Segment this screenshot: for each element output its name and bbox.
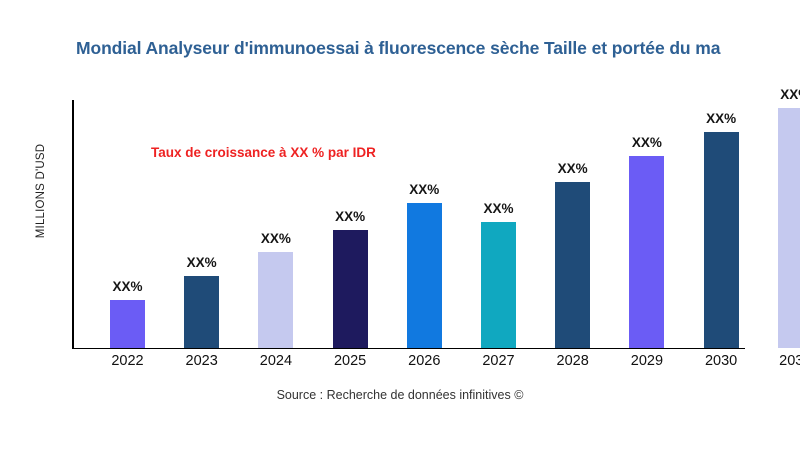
- bar-value-label-2022: XX%: [98, 279, 157, 294]
- x-tick-2022: 2022: [96, 353, 159, 369]
- bar-2025: [333, 230, 368, 348]
- x-tick-2027: 2027: [467, 353, 530, 369]
- bar-value-label-2023: XX%: [172, 255, 231, 270]
- bar-2024: [258, 252, 293, 348]
- bar-value-label-2028: XX%: [543, 161, 602, 176]
- bar-2028: [555, 182, 590, 348]
- x-tick-2024: 2024: [244, 353, 307, 369]
- x-tick-2028: 2028: [541, 353, 604, 369]
- bar-2022: [110, 300, 145, 348]
- bar-2027: [481, 222, 516, 348]
- bar-2031: [778, 108, 800, 348]
- bar-value-label-2024: XX%: [246, 231, 305, 246]
- x-tick-2023: 2023: [170, 353, 233, 369]
- x-tick-2031: 2031: [764, 353, 800, 369]
- x-tick-2030: 2030: [690, 353, 753, 369]
- bar-value-label-2026: XX%: [395, 182, 454, 197]
- bar-2023: [184, 276, 219, 348]
- x-tick-2029: 2029: [615, 353, 678, 369]
- bar-value-label-2029: XX%: [617, 135, 676, 150]
- bar-value-label-2030: XX%: [692, 111, 751, 126]
- bar-value-label-2027: XX%: [469, 201, 528, 216]
- growth-rate-annotation: Taux de croissance à XX % par IDR: [151, 145, 376, 160]
- source-caption: Source : Recherche de données infinitive…: [0, 388, 800, 402]
- bar-value-label-2025: XX%: [321, 209, 380, 224]
- x-tick-2025: 2025: [319, 353, 382, 369]
- bar-2026: [407, 203, 442, 348]
- bar-value-label-2031: XX%: [766, 87, 800, 102]
- plot-area: XX%2022XX%2023XX%2024XX%2025XX%2026XX%20…: [0, 0, 800, 450]
- bar-2030: [704, 132, 739, 348]
- bar-2029: [629, 156, 664, 348]
- x-tick-2026: 2026: [393, 353, 456, 369]
- chart-canvas: Mondial Analyseur d'immunoessai à fluore…: [0, 0, 800, 450]
